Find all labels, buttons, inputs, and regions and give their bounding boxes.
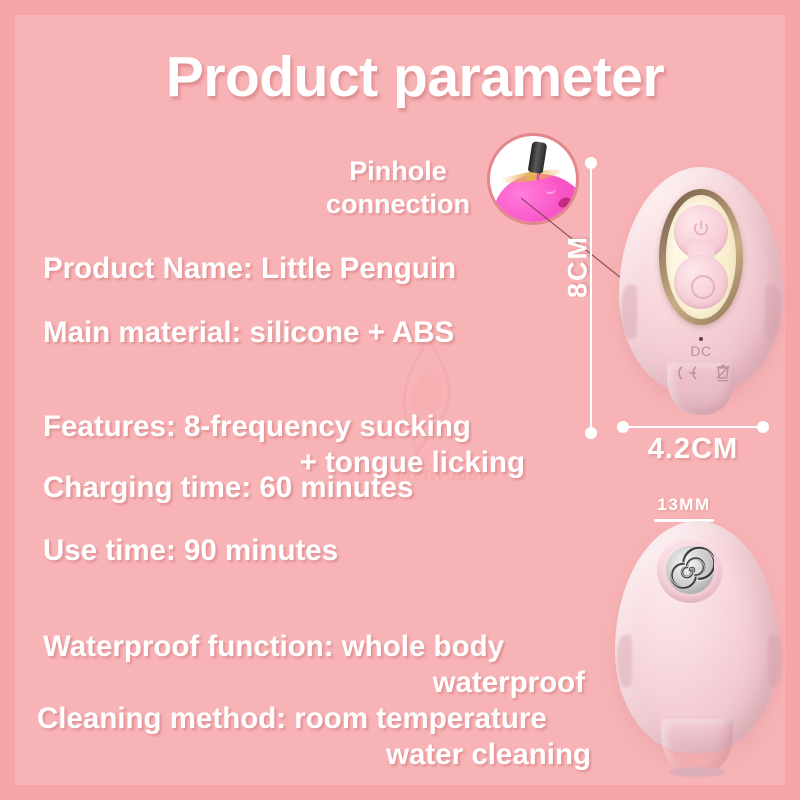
charging-plug-icon xyxy=(528,141,548,174)
pinhole-magnifier-circle xyxy=(487,133,579,225)
product-wing-right xyxy=(765,285,781,339)
pinhole-label-line1: Pinhole xyxy=(349,156,447,186)
product-wing-right-front xyxy=(768,635,783,687)
power-icon xyxy=(693,220,709,238)
mode-icon xyxy=(691,275,715,299)
spec-main-material: Main material: silicone + ABS xyxy=(43,315,643,351)
dimension-cap-top xyxy=(585,157,597,169)
spec-product-name: Product Name: Little Penguin xyxy=(43,251,643,287)
spec-cleaning-line2: water cleaning xyxy=(37,737,649,773)
spec-cleaning-line1: Cleaning method: room temperature xyxy=(37,702,547,735)
spiral-nozzle-icon xyxy=(666,546,714,594)
inner-panel: pretty lady Product parameter Pinhole co… xyxy=(15,15,785,785)
spec-charging-time: Charging time: 60 minutes xyxy=(43,470,643,506)
spec-waterproof-line1: Waterproof function: whole body xyxy=(43,630,504,663)
dimension-cap-right xyxy=(757,421,769,433)
pinhole-label-line2: connection xyxy=(326,189,470,219)
page-title: Product parameter xyxy=(15,44,785,110)
pinhole-connection-label: Pinhole connection xyxy=(293,155,503,221)
product-parameter-page: pretty lady Product parameter Pinhole co… xyxy=(0,0,800,800)
weee-bin-icon xyxy=(713,363,733,383)
nozzle-dimension-label: 13MM xyxy=(628,495,740,515)
spec-use-time: Use time: 90 minutes xyxy=(43,533,643,569)
ce-mark-icon xyxy=(669,364,709,382)
product-base xyxy=(669,767,725,777)
dc-port-anchor-dot xyxy=(699,337,703,341)
spec-cleaning-method: Cleaning method: room temperature water … xyxy=(37,665,649,785)
spec-features-line1: Features: 8-frequency sucking xyxy=(43,410,471,443)
width-dimension-line xyxy=(623,426,763,428)
control-button-group xyxy=(674,205,728,309)
